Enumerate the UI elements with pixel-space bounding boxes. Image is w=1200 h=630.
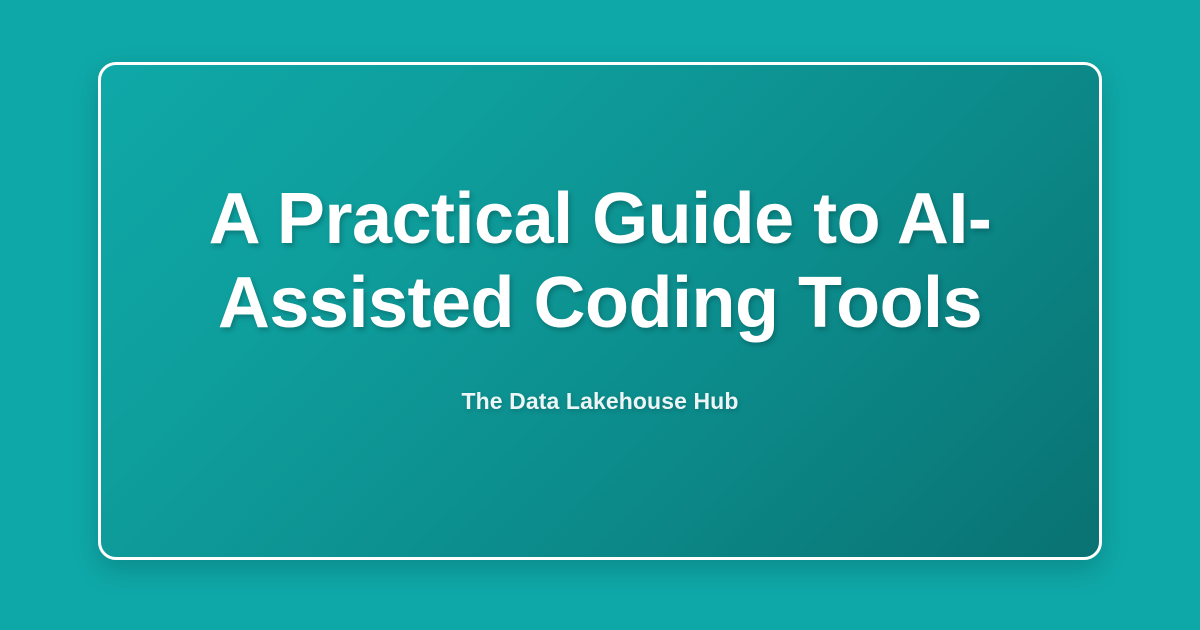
page-title: A Practical Guide to AI-Assisted Coding … <box>200 177 1000 345</box>
site-name-subtitle: The Data Lakehouse Hub <box>200 387 1000 417</box>
og-canvas: A Practical Guide to AI-Assisted Coding … <box>0 0 1200 630</box>
og-text-block: A Practical Guide to AI-Assisted Coding … <box>200 177 1000 417</box>
og-card: A Practical Guide to AI-Assisted Coding … <box>98 62 1102 560</box>
